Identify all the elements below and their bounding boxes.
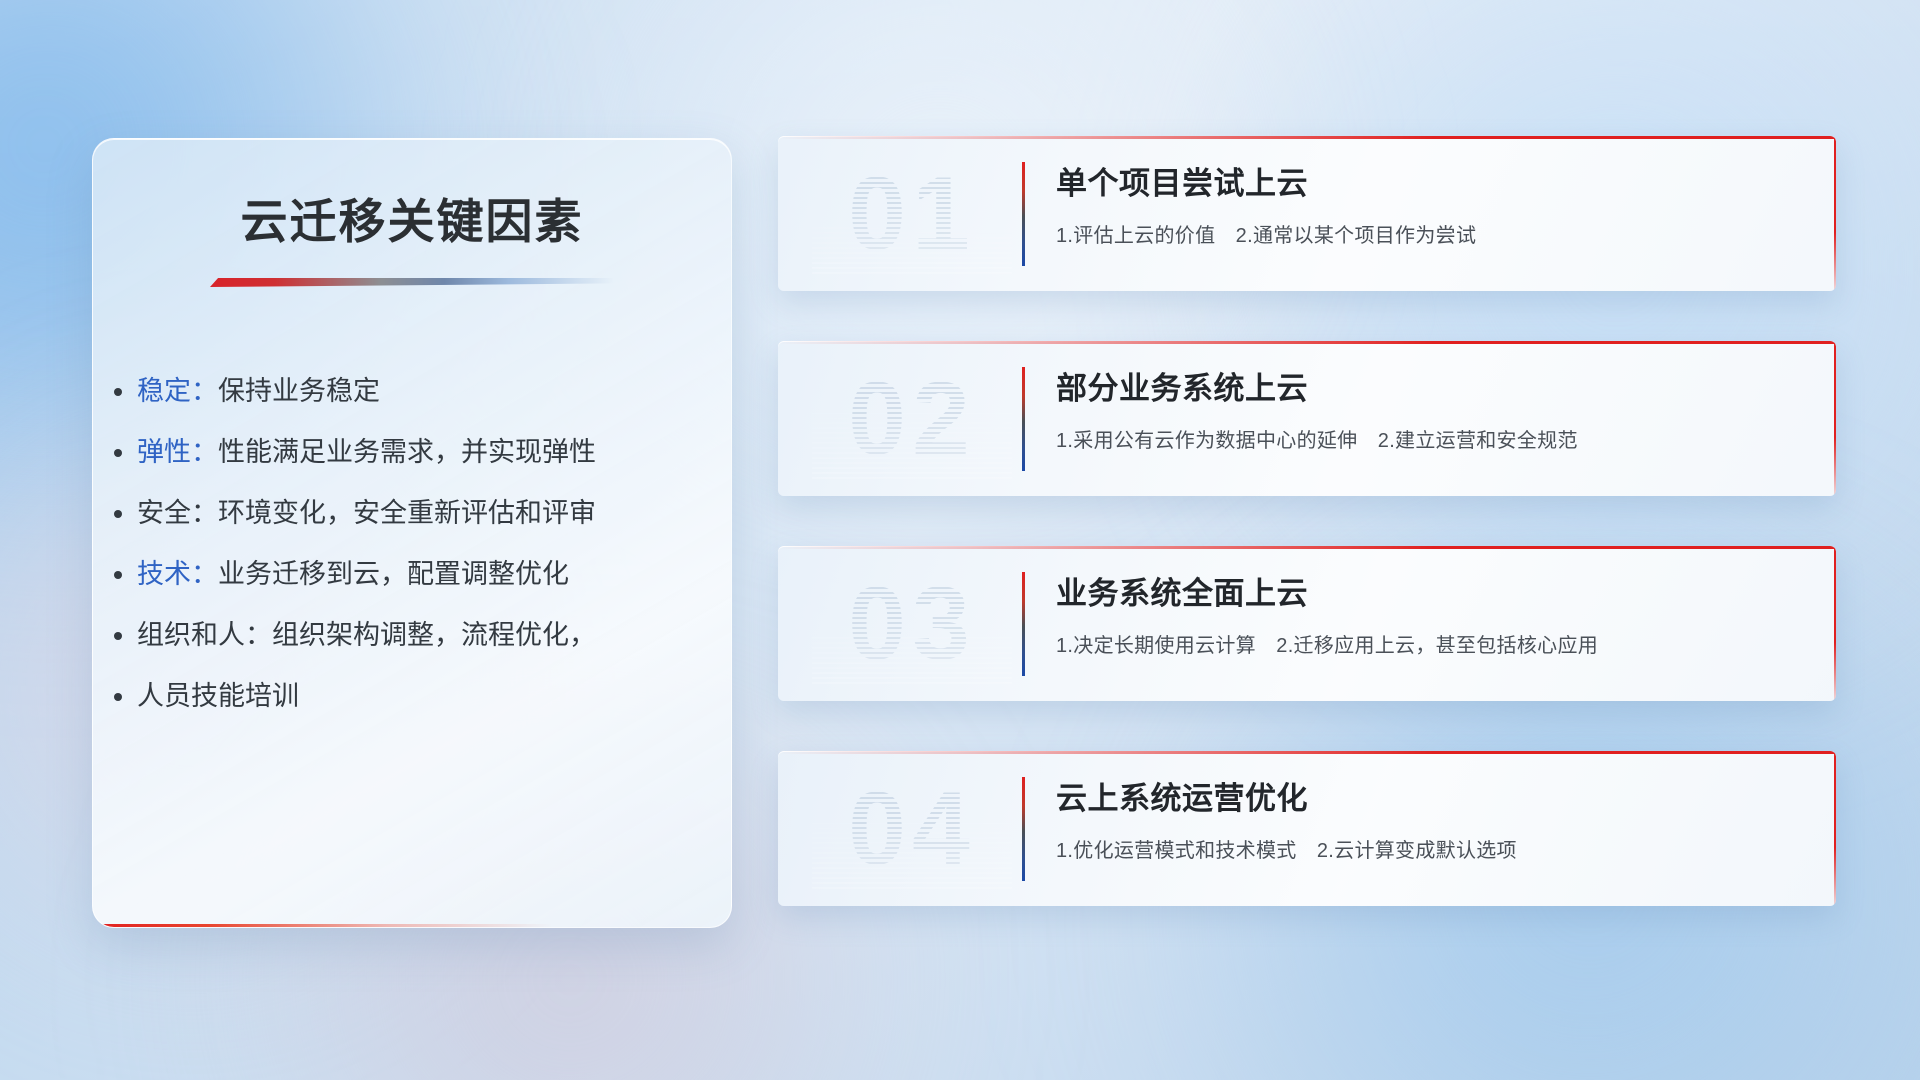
list-item-key: 稳定： [137,376,218,406]
step-description: 1.优化运营模式和技术模式 2.云计算变成默认选项 [1056,834,1796,863]
step-divider [1022,572,1025,676]
list-item-text: 性能满足业务需求，并实现弹性 [218,437,596,467]
step-number-02: 02 [812,357,1012,481]
list-item-text: 业务迁移到云，配置调整优化 [218,559,569,589]
step-card-02[interactable]: 02 部分业务系统上云 1.采用公有云作为数据中心的延伸 2.建立运营和安全规范 [778,341,1836,496]
step-divider [1022,777,1025,881]
page-title: 云迁移关键因素 [93,183,731,252]
step-title: 单个项目尝试上云 [1056,158,1796,203]
key-factors-panel: 云迁移关键因素 稳定：保持业务稳定 弹性：性能满足业务需求，并实现弹性 安全：环… [92,138,732,928]
step-number-01: 01 [812,152,1012,276]
step-number-03: 03 [812,562,1012,686]
step-description: 1.采用公有云作为数据中心的延伸 2.建立运营和安全规范 [1056,424,1796,453]
step-number-04: 04 [812,767,1012,891]
list-item-key: 技术： [137,559,218,589]
list-item-key: 安全： [137,498,218,528]
step-content: 云上系统运营优化 1.优化运营模式和技术模式 2.云计算变成默认选项 [1056,773,1796,863]
list-item: 人员技能培训 [137,666,731,727]
step-content: 单个项目尝试上云 1.评估上云的价值 2.通常以某个项目作为尝试 [1056,158,1796,248]
step-title: 云上系统运营优化 [1056,773,1796,818]
step-divider [1022,367,1025,471]
list-item: 安全：环境变化，安全重新评估和评审 [137,483,731,544]
list-item: 稳定：保持业务稳定 [137,361,731,422]
list-item-text: 保持业务稳定 [218,376,380,406]
step-card-03[interactable]: 03 业务系统全面上云 1.决定长期使用云计算 2.迁移应用上云，甚至包括核心应… [778,546,1836,701]
slide-stage: 云迁移关键因素 稳定：保持业务稳定 弹性：性能满足业务需求，并实现弹性 安全：环… [0,0,1920,1080]
step-divider [1022,162,1025,266]
migration-steps-list: 01 单个项目尝试上云 1.评估上云的价值 2.通常以某个项目作为尝试 02 部… [778,136,1836,956]
title-underline-rule [210,278,614,287]
list-item-text: 环境变化，安全重新评估和评审 [218,498,596,528]
list-item: 技术：业务迁移到云，配置调整优化 [137,544,731,605]
step-card-04[interactable]: 04 云上系统运营优化 1.优化运营模式和技术模式 2.云计算变成默认选项 [778,751,1836,906]
list-item: 弹性：性能满足业务需求，并实现弹性 [137,422,731,483]
step-content: 业务系统全面上云 1.决定长期使用云计算 2.迁移应用上云，甚至包括核心应用 [1056,568,1796,658]
list-item-key: 弹性： [137,437,218,467]
key-factors-list: 稳定：保持业务稳定 弹性：性能满足业务需求，并实现弹性 安全：环境变化，安全重新… [137,361,731,727]
list-item-text: 人员技能培训 [137,681,299,711]
list-item-text: 组织架构调整，流程优化， [272,620,596,650]
step-description: 1.评估上云的价值 2.通常以某个项目作为尝试 [1056,219,1796,248]
step-card-01[interactable]: 01 单个项目尝试上云 1.评估上云的价值 2.通常以某个项目作为尝试 [778,136,1836,291]
step-description: 1.决定长期使用云计算 2.迁移应用上云，甚至包括核心应用 [1056,629,1796,658]
step-content: 部分业务系统上云 1.采用公有云作为数据中心的延伸 2.建立运营和安全规范 [1056,363,1796,453]
step-title: 业务系统全面上云 [1056,568,1796,613]
step-title: 部分业务系统上云 [1056,363,1796,408]
list-item-key: 组织和人： [137,620,272,650]
list-item: 组织和人：组织架构调整，流程优化， [137,605,731,666]
